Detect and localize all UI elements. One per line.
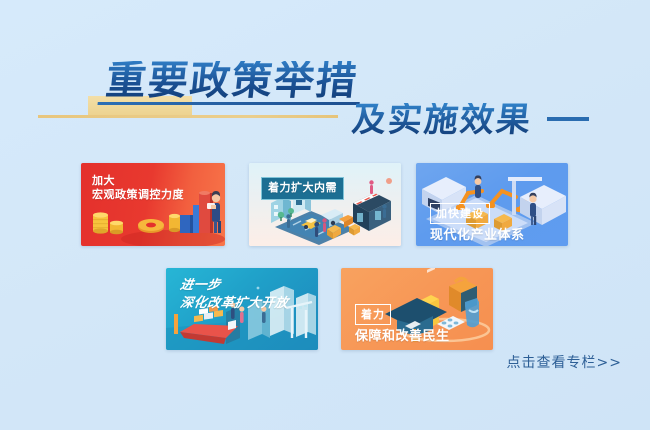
policy-card-2[interactable]: 着力扩大内需 (249, 163, 401, 246)
banner-title-block: 重要政策举措 及实施效果 (0, 55, 650, 150)
policy-card-5-text: 着力 保障和改善民生 (355, 304, 450, 345)
policy-card-4-text: 进一步 深化改革扩大开放 (180, 278, 288, 313)
policy-card-1-text: 加大 宏观政策调控力度 (92, 174, 184, 202)
policy-card-3-line-2: 现代化产业体系 (430, 228, 525, 244)
policy-card-4-line-1: 进一步 (179, 278, 289, 294)
policy-card-2-text: 着力扩大内需 (261, 177, 344, 200)
title-dash-icon (547, 117, 589, 121)
policy-card-5[interactable]: 着力 保障和改善民生 (341, 268, 493, 350)
city-commerce-shopping-street-icon (249, 163, 401, 246)
policy-card-1-line-2: 宏观政策调控力度 (92, 188, 184, 202)
policy-card-3[interactable]: 加快建设 现代化产业体系 (416, 163, 568, 246)
policy-card-1-line-1: 加大 (92, 174, 184, 188)
policy-card-1[interactable]: 加大 宏观政策调控力度 (81, 163, 225, 246)
view-column-link[interactable]: 点击查看专栏>> (507, 352, 622, 372)
title-gold-rule (38, 115, 338, 118)
policy-card-5-line-2: 保障和改善民生 (355, 329, 450, 345)
policy-card-3-text: 加快建设 现代化产业体系 (430, 203, 525, 244)
policy-banner: 重要政策举措 及实施效果 (0, 0, 650, 430)
policy-card-4[interactable]: 进一步 深化改革扩大开放 (166, 268, 318, 350)
policy-card-4-line-2: 深化改革扩大开放 (179, 296, 289, 312)
policy-card-5-line-1: 着力 (355, 304, 391, 325)
page-title-line-1: 重要政策举措 (104, 61, 360, 101)
policy-card-3-line-1: 加快建设 (430, 203, 490, 224)
page-title-line-2: 及实施效果 (350, 103, 534, 137)
policy-card-2-line-1: 着力扩大内需 (268, 181, 337, 195)
